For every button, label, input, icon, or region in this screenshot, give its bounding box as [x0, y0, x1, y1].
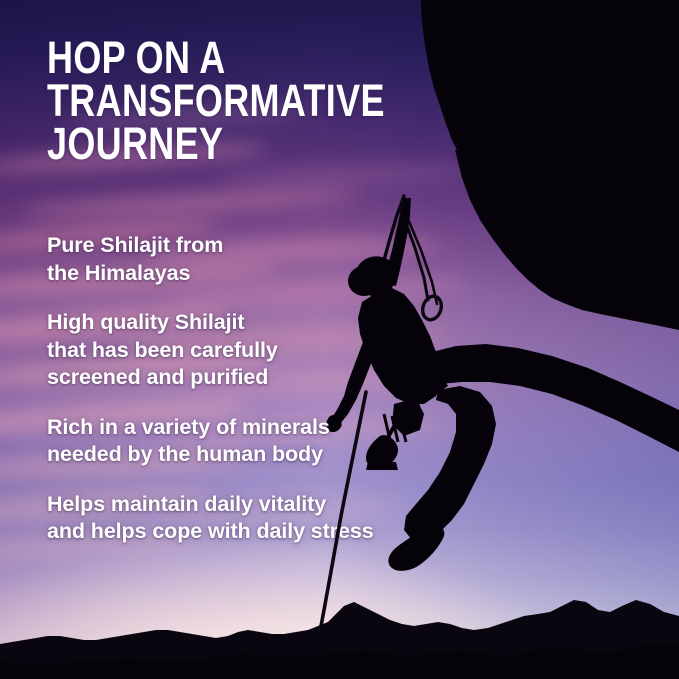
cloud-streak	[20, 187, 360, 219]
promo-poster: HOP ON A TRANSFORMATIVE JOURNEY Pure Shi…	[0, 0, 679, 679]
benefit-item: Rich in a variety of minerals needed by …	[47, 414, 467, 469]
cloud-streak	[220, 163, 480, 186]
page-title: HOP ON A TRANSFORMATIVE JOURNEY	[47, 36, 495, 165]
benefit-item: Helps maintain daily vitality and helps …	[47, 491, 467, 546]
benefit-item: High quality Shilajit that has been care…	[47, 309, 467, 392]
benefits-list: Pure Shilajit from the Himalayas High qu…	[47, 232, 467, 546]
benefit-item: Pure Shilajit from the Himalayas	[47, 232, 467, 287]
